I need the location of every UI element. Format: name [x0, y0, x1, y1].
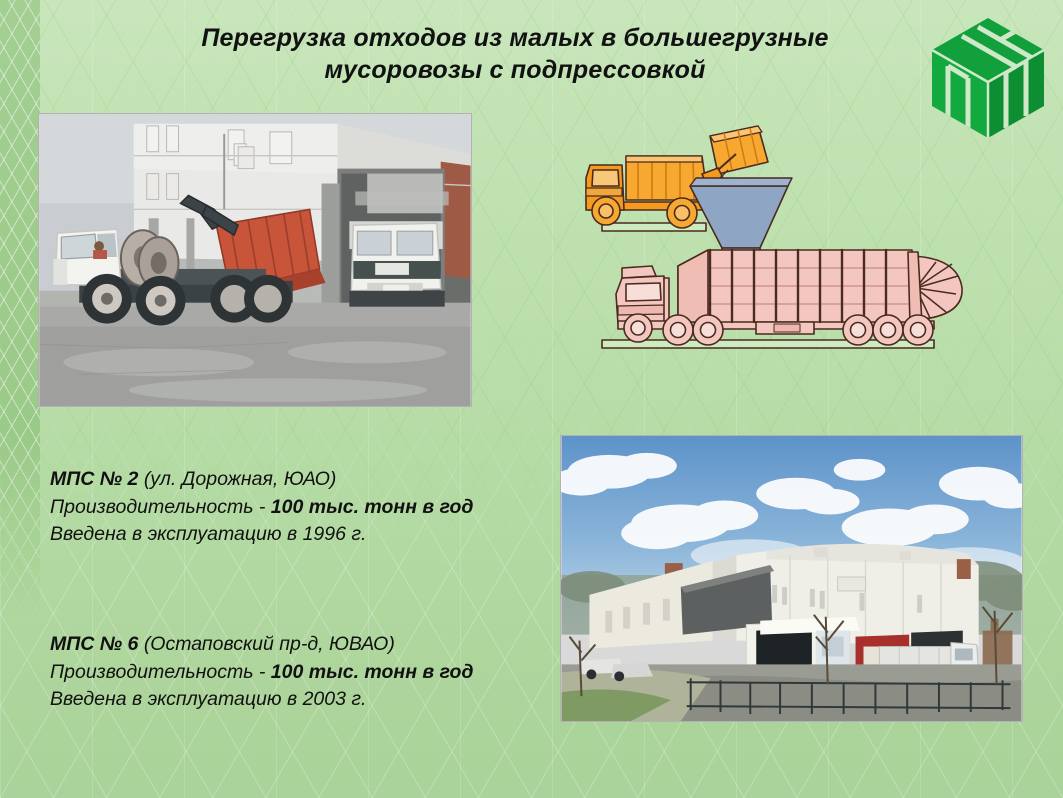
station-2-name: МПС № 6: [50, 633, 138, 655]
station-2-commissioned: Введена в эксплуатацию в 2003 г.: [50, 686, 473, 714]
slide-title-line-1: Перегрузка отходов из малых в большегруз…: [201, 24, 828, 52]
slide-root: Перегрузка отходов из малых в большегруз…: [0, 0, 1063, 798]
station-2-capacity-line: Производительность - 100 тыс. тонн в год: [50, 659, 473, 687]
station-info-block-2: МПС № 6 (Остаповский пр-д, ЮВАО) Произво…: [50, 631, 473, 714]
station-2-capacity-value: 100 тыс. тонн в год: [271, 661, 474, 683]
station-info-block-1: МПС № 2 (ул. Дорожная, ЮАО) Производител…: [50, 466, 473, 549]
background-left-band: [0, 0, 40, 798]
station-2-title-line: МПС № 6 (Остаповский пр-д, ЮВАО): [50, 631, 473, 659]
waste-transfer-scheme: [560, 118, 990, 361]
station-1-name: МПС № 2: [50, 468, 138, 490]
station-1-address: (ул. Дорожная, ЮАО): [144, 468, 337, 490]
station-2-address: (Остаповский пр-д, ЮВАО): [144, 633, 395, 655]
station-1-capacity-line: Производительность - 100 тыс. тонн в год: [50, 494, 473, 522]
station-1-title-line: МПС № 2 (ул. Дорожная, ЮАО): [50, 466, 473, 494]
slide-title-line-2: мусоровозы с подпрессовкой: [324, 56, 705, 84]
station-1-commissioned: Введена в эксплуатацию в 1996 г.: [50, 521, 473, 549]
photo-hook-lift-truck-unloading: [38, 113, 472, 407]
station-2-capacity-label: Производительность -: [50, 661, 271, 683]
slide-title: Перегрузка отходов из малых в большегруз…: [120, 22, 910, 86]
photo-transfer-station-building: [560, 435, 1023, 722]
receiving-hopper: [690, 186, 788, 248]
station-1-capacity-value: 100 тыс. тонн в год: [271, 496, 474, 518]
station-1-capacity-label: Производительность -: [50, 496, 271, 518]
